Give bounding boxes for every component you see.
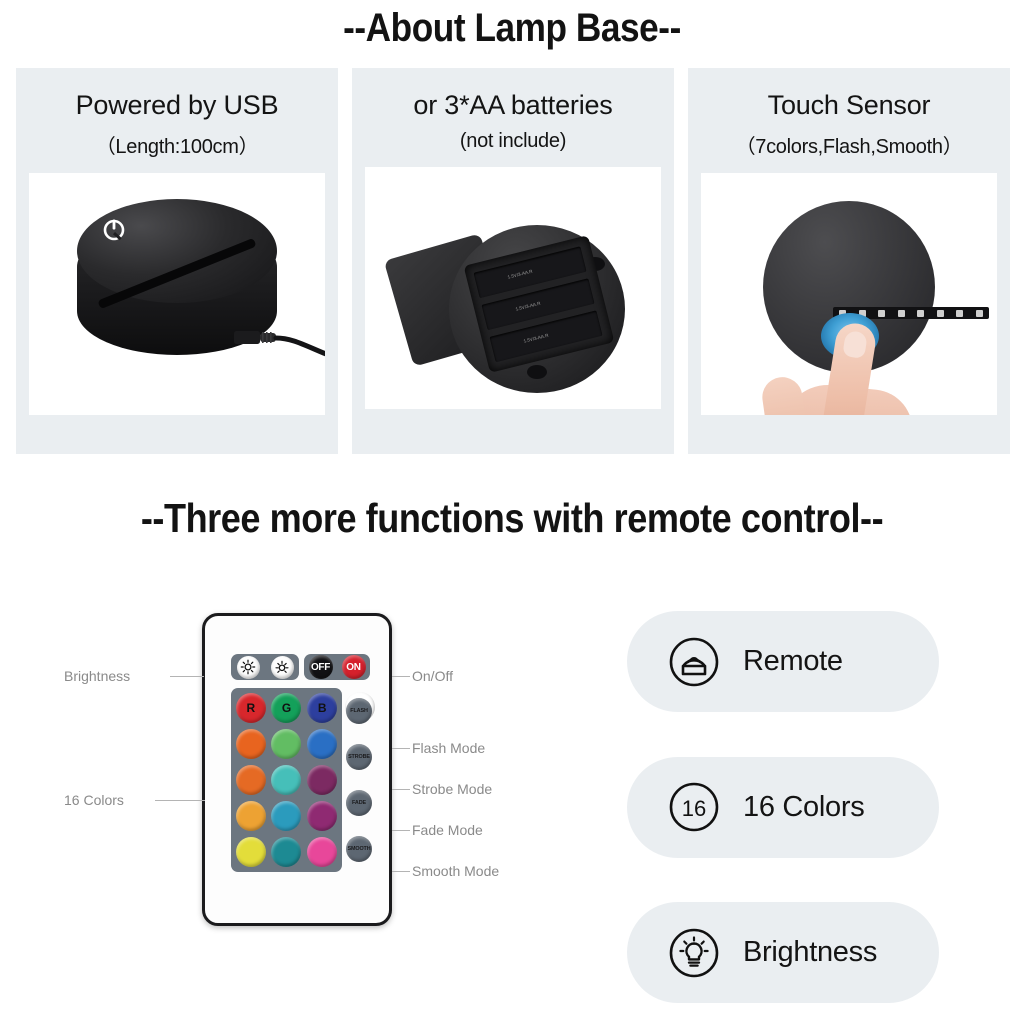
remote-control-body[interactable]: OFF ON RGB W FLASHSTROBEFADESMOOTH [202,613,392,926]
panel-subtitle-batteries: (not include) [460,130,566,153]
feature-label-remote: Remote [743,645,843,678]
panel-subtitle-usb: （Length:100cm） [96,130,259,159]
led-dot [898,310,905,317]
color-button-r[interactable]: R [236,693,266,723]
led-dot [937,310,944,317]
rubber-foot [527,365,547,379]
panel-touch-sensor: Touch Sensor （7colors,Flash,Smooth） [688,68,1010,454]
remote-signal-icon [667,635,721,689]
sixteen-badge-icon: 16 [667,780,721,834]
color-button-4[interactable] [271,729,301,759]
lamp-base-battery-compartment-photo: 1.5V/3-AA.R 1.5V/3-AA.R 1.5V/3-AA.R [365,167,661,409]
callout-16-colors: 16 Colors [64,792,124,808]
color-button-9[interactable] [236,801,266,831]
color-button-14[interactable] [307,837,337,867]
lamp-base-usb-photo [29,173,325,415]
panel-title-touch: Touch Sensor [768,90,931,121]
power-button-group: OFF ON [304,654,370,680]
panel-aa-batteries: or 3*AA batteries (not include) 1.5V/3-A… [352,68,674,454]
color-button-b[interactable]: B [307,693,337,723]
color-button-13[interactable] [271,837,301,867]
callout-flash-mode: Flash Mode [412,740,485,756]
power-symbol-icon [101,217,127,243]
lamp-base-panels: Powered by USB （Length:100cm） [16,68,1010,454]
callout-fade-mode: Fade Mode [412,822,483,838]
color-button-8[interactable] [307,765,337,795]
page-title-about-lamp-base: --About Lamp Base-- [61,6,962,51]
callout-on-off: On/Off [412,668,453,684]
leader-line-flash [392,748,410,749]
panel-title-usb: Powered by USB [76,90,279,121]
feature-pill-16-colors[interactable]: 16 16 Colors [627,757,939,858]
fingernail [842,330,868,359]
mode-button-group: FLASHSTROBEFADESMOOTH [345,688,373,872]
color-button-6[interactable] [236,765,266,795]
feature-pill-list: Remote 16 16 Colors [627,611,939,1003]
color-button-10[interactable] [271,801,301,831]
color-button-grid: RGB [231,688,342,872]
feature-label-brightness: Brightness [743,936,877,969]
callout-brightness: Brightness [64,668,130,684]
mode-button-fade[interactable]: FADE [346,790,372,816]
lamp-base-touch-sensor-photo [701,173,997,415]
remote-control-diagram: OFF ON RGB W FLASHSTROBEFADESMOOTH [202,613,392,926]
usb-cable [234,323,325,357]
color-button-g[interactable]: G [271,693,301,723]
color-button-5[interactable] [307,729,337,759]
lamp-base-top-surface [77,199,277,303]
brightness-up-button[interactable] [237,656,260,679]
leader-line-smooth [392,871,410,872]
brightness-down-button[interactable] [271,656,294,679]
mode-button-flash[interactable]: FLASH [346,698,372,724]
feature-label-16-colors: 16 Colors [743,791,864,824]
leader-line-strobe [392,789,410,790]
lightbulb-icon [667,926,721,980]
color-button-3[interactable] [236,729,266,759]
led-dot [956,310,963,317]
sun-dim-icon [274,659,290,675]
panel-subtitle-touch: （7colors,Flash,Smooth） [736,130,963,159]
leader-line-on-off [392,676,410,677]
mode-button-strobe[interactable]: STROBE [346,744,372,770]
feature-pill-brightness[interactable]: Brightness [627,902,939,1003]
panel-title-batteries: or 3*AA batteries [413,90,612,121]
color-button-12[interactable] [236,837,266,867]
mode-button-smooth[interactable]: SMOOTH [346,836,372,862]
panel-powered-by-usb: Powered by USB （Length:100cm） [16,68,338,454]
callout-strobe-mode: Strobe Mode [412,781,492,797]
product-infographic: --About Lamp Base-- Powered by USB （Leng… [0,0,1024,1024]
led-dot [878,310,885,317]
led-dot [917,310,924,317]
off-button[interactable]: OFF [309,655,333,679]
callout-smooth-mode: Smooth Mode [412,863,499,879]
on-button[interactable]: ON [342,655,366,679]
leader-line-brightness [170,676,204,677]
feature-pill-remote[interactable]: Remote [627,611,939,712]
led-dot [976,310,983,317]
color-button-11[interactable] [307,801,337,831]
leader-line-16-colors [155,800,205,801]
page-title-three-more-functions: --Three more functions with remote contr… [61,495,962,542]
color-button-7[interactable] [271,765,301,795]
leader-line-fade [392,830,410,831]
brightness-button-group [231,654,299,680]
sun-bright-icon [240,659,256,675]
svg-text:16: 16 [682,796,706,821]
